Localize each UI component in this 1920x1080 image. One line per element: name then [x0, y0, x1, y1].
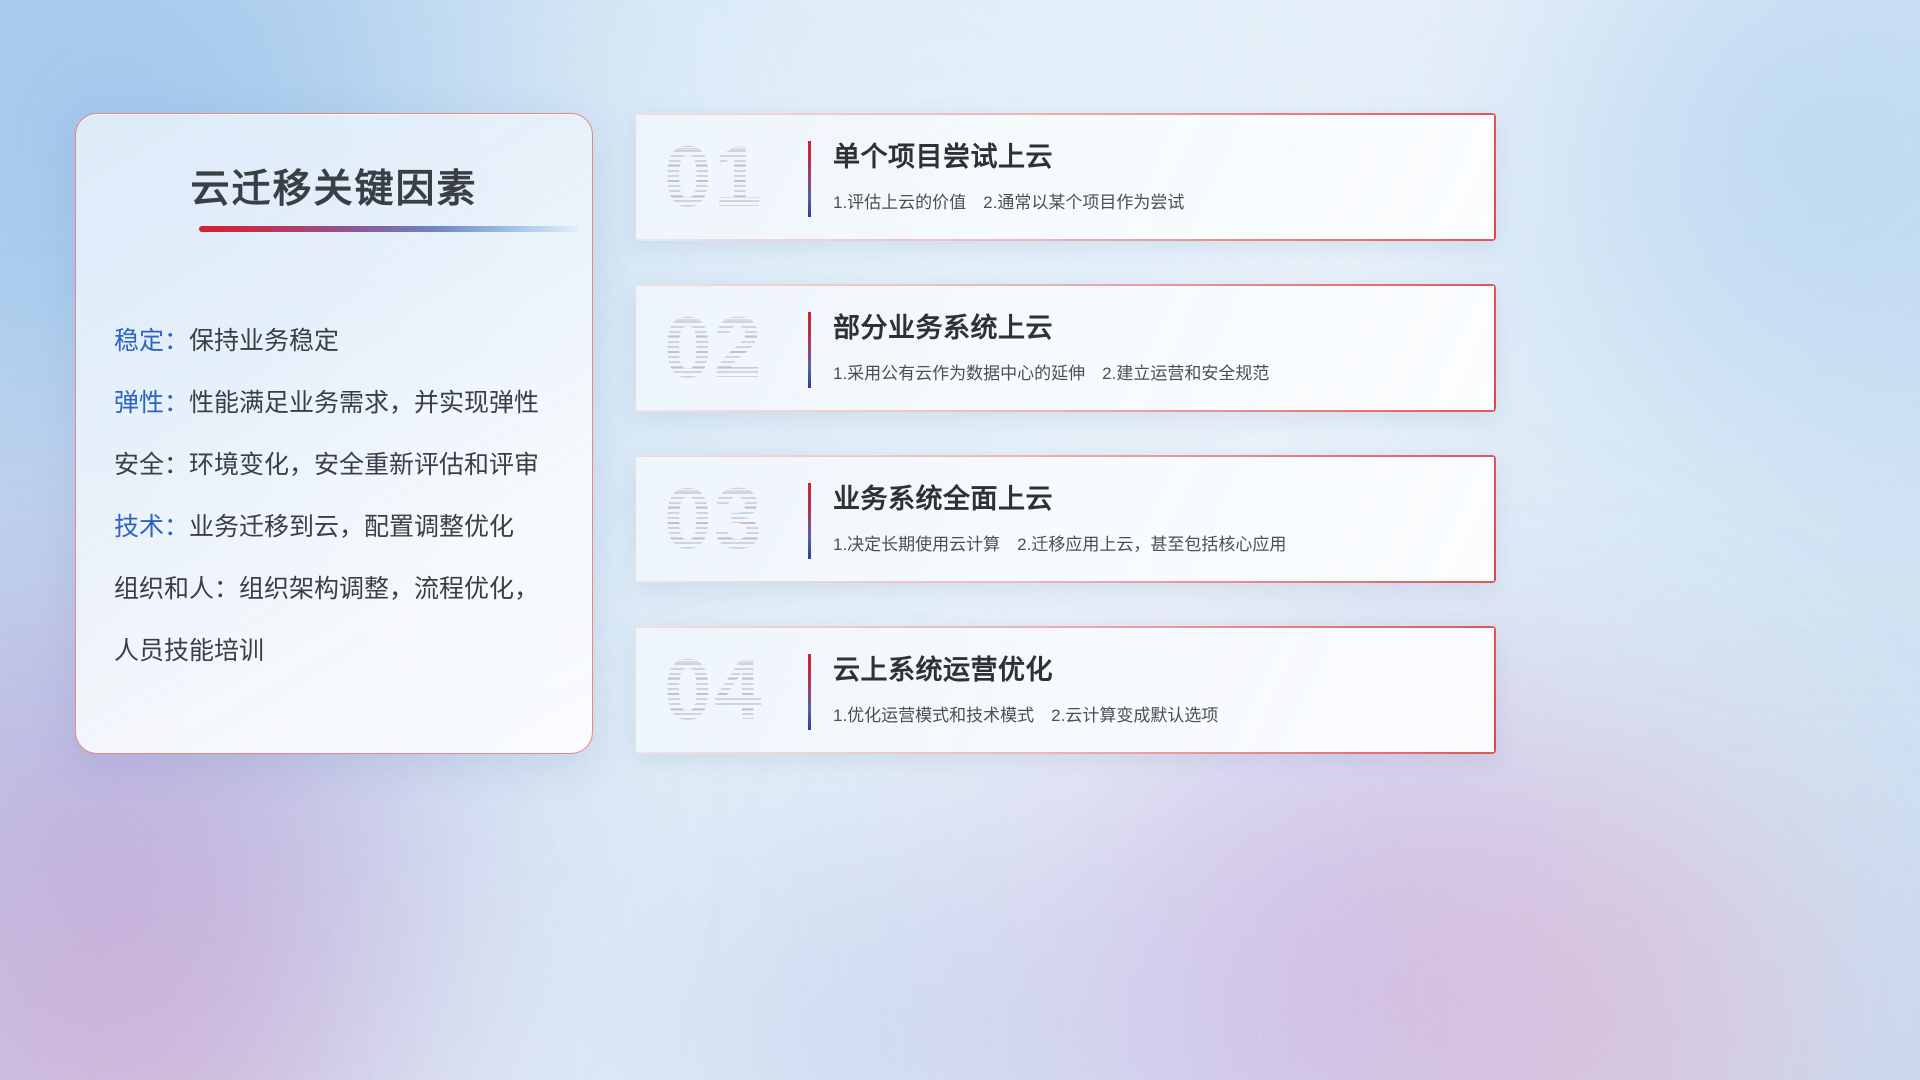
card-accent-bar [808, 654, 811, 730]
slide-content: 云迁移关键因素 稳定：保持业务稳定 弹性：性能满足业务需求，并实现弹性 安全：环… [0, 0, 1920, 1080]
card-title: 部分业务系统上云 [833, 306, 1470, 345]
card-right-accent [1494, 626, 1496, 754]
card-accent-bar [808, 312, 811, 388]
stage-card[interactable]: 02 02 部分业务系统上云 1.采用公有云作为数据中心的延伸 2.建立运营和安… [636, 284, 1496, 412]
stage-card[interactable]: 03 03 业务系统全面上云 1.决定长期使用云计算 2.迁移应用上云，甚至包括… [636, 455, 1496, 583]
card-body: 云上系统运营优化 1.优化运营模式和技术模式 2.云计算变成默认选项 [833, 648, 1470, 726]
stage-card-list: 01 01 单个项目尝试上云 1.评估上云的价值 2.通常以某个项目作为尝试 0… [636, 113, 1496, 797]
factor-item: 技术：业务迁移到云，配置调整优化 [114, 496, 568, 558]
card-accent-bar [808, 483, 811, 559]
key-factors-panel: 云迁移关键因素 稳定：保持业务稳定 弹性：性能满足业务需求，并实现弹性 安全：环… [75, 113, 593, 754]
panel-title: 云迁移关键因素 [76, 158, 592, 214]
factor-label: 稳定： [114, 327, 189, 355]
card-body: 单个项目尝试上云 1.评估上云的价值 2.通常以某个项目作为尝试 [833, 135, 1470, 213]
card-description: 1.采用公有云作为数据中心的延伸 2.建立运营和安全规范 [833, 359, 1470, 384]
factor-text: 性能满足业务需求，并实现弹性 [189, 389, 539, 417]
card-body: 部分业务系统上云 1.采用公有云作为数据中心的延伸 2.建立运营和安全规范 [833, 306, 1470, 384]
card-title: 业务系统全面上云 [833, 477, 1470, 516]
factor-list: 稳定：保持业务稳定 弹性：性能满足业务需求，并实现弹性 安全：环境变化，安全重新… [114, 310, 568, 682]
card-description: 1.优化运营模式和技术模式 2.云计算变成默认选项 [833, 701, 1470, 726]
factor-label: 安全： [114, 451, 189, 479]
card-right-accent [1494, 284, 1496, 412]
card-description: 1.决定长期使用云计算 2.迁移应用上云，甚至包括核心应用 [833, 530, 1470, 555]
factor-text: 环境变化，安全重新评估和评审 [189, 451, 539, 479]
stage-card[interactable]: 01 01 单个项目尝试上云 1.评估上云的价值 2.通常以某个项目作为尝试 [636, 113, 1496, 241]
factor-text: 人员技能培训 [114, 637, 264, 665]
card-right-accent [1494, 455, 1496, 583]
factor-text: 组织架构调整，流程优化， [239, 575, 539, 603]
factor-item: 组织和人：组织架构调整，流程优化， [114, 558, 568, 620]
factor-label: 技术： [114, 513, 189, 541]
factor-item-continued: 人员技能培训 [114, 620, 568, 682]
card-body: 业务系统全面上云 1.决定长期使用云计算 2.迁移应用上云，甚至包括核心应用 [833, 477, 1470, 555]
card-right-accent [1494, 113, 1496, 241]
card-title: 云上系统运营优化 [833, 648, 1470, 687]
factor-item: 弹性：性能满足业务需求，并实现弹性 [114, 372, 568, 434]
factor-label: 弹性： [114, 389, 189, 417]
factor-item: 安全：环境变化，安全重新评估和评审 [114, 434, 568, 496]
factor-text: 业务迁移到云，配置调整优化 [189, 513, 514, 541]
factor-label: 组织和人： [114, 575, 239, 603]
stage-card[interactable]: 04 04 云上系统运营优化 1.优化运营模式和技术模式 2.云计算变成默认选项 [636, 626, 1496, 754]
factor-item: 稳定：保持业务稳定 [114, 310, 568, 372]
title-underline-rule [199, 226, 579, 232]
card-description: 1.评估上云的价值 2.通常以某个项目作为尝试 [833, 188, 1470, 213]
card-title: 单个项目尝试上云 [833, 135, 1470, 174]
card-accent-bar [808, 141, 811, 217]
factor-text: 保持业务稳定 [189, 327, 339, 355]
